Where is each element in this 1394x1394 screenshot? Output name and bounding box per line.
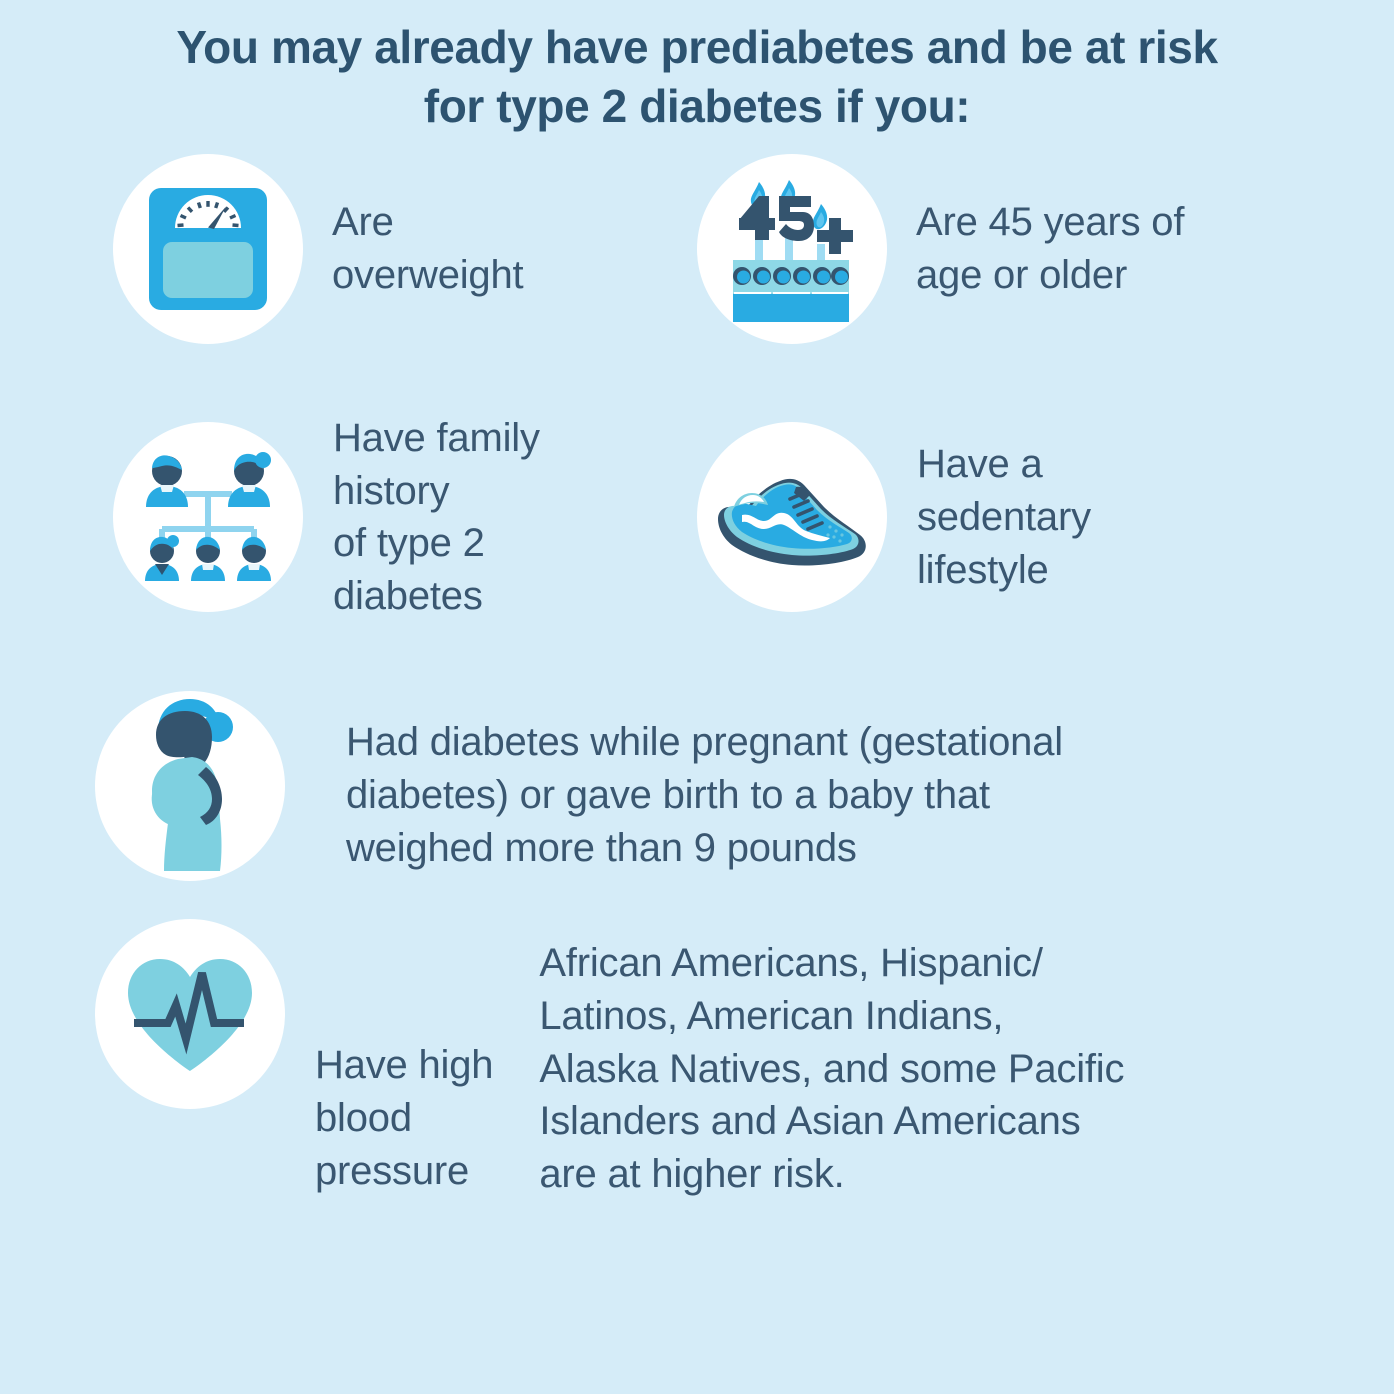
risk-row-4: Have high blood pressure African America… bbox=[0, 919, 1394, 1201]
risk-item-label: Have family history of type 2 diabetes bbox=[333, 412, 540, 623]
ethnicity-note: African Americans, Hispanic/ Latinos, Am… bbox=[539, 937, 1124, 1201]
heart-pulse-icon bbox=[95, 919, 285, 1109]
risk-item-label: Are overweight bbox=[332, 196, 523, 302]
page-title: You may already have prediabetes and be … bbox=[0, 0, 1394, 136]
risk-item-label: Have a sedentary lifestyle bbox=[917, 438, 1091, 596]
bathroom-scale-icon bbox=[113, 154, 303, 344]
risk-row-3: Had diabetes while pregnant (gestational… bbox=[0, 691, 1394, 881]
risk-factor-list: Are overweight bbox=[0, 154, 1394, 1201]
risk-item-age: Are 45 years of age or older bbox=[697, 154, 1394, 344]
risk-item-sedentary: Have a sedentary lifestyle bbox=[697, 412, 1394, 623]
risk-item-family-history: Have family history of type 2 diabetes bbox=[0, 412, 697, 623]
risk-item-overweight: Are overweight bbox=[0, 154, 697, 344]
family-tree-icon bbox=[113, 422, 303, 612]
risk-item-label: Had diabetes while pregnant (gestational… bbox=[346, 716, 1063, 874]
risk-row-2: Have family history of type 2 diabetes bbox=[0, 412, 1394, 623]
risk-row-1: Are overweight bbox=[0, 154, 1394, 344]
risk-item-label: Have high blood pressure bbox=[315, 1039, 493, 1197]
pregnant-woman-icon bbox=[95, 691, 285, 881]
running-shoe-icon bbox=[697, 422, 887, 612]
risk-item-label: Are 45 years of age or older bbox=[916, 196, 1184, 302]
birthday-cake-icon bbox=[697, 154, 887, 344]
